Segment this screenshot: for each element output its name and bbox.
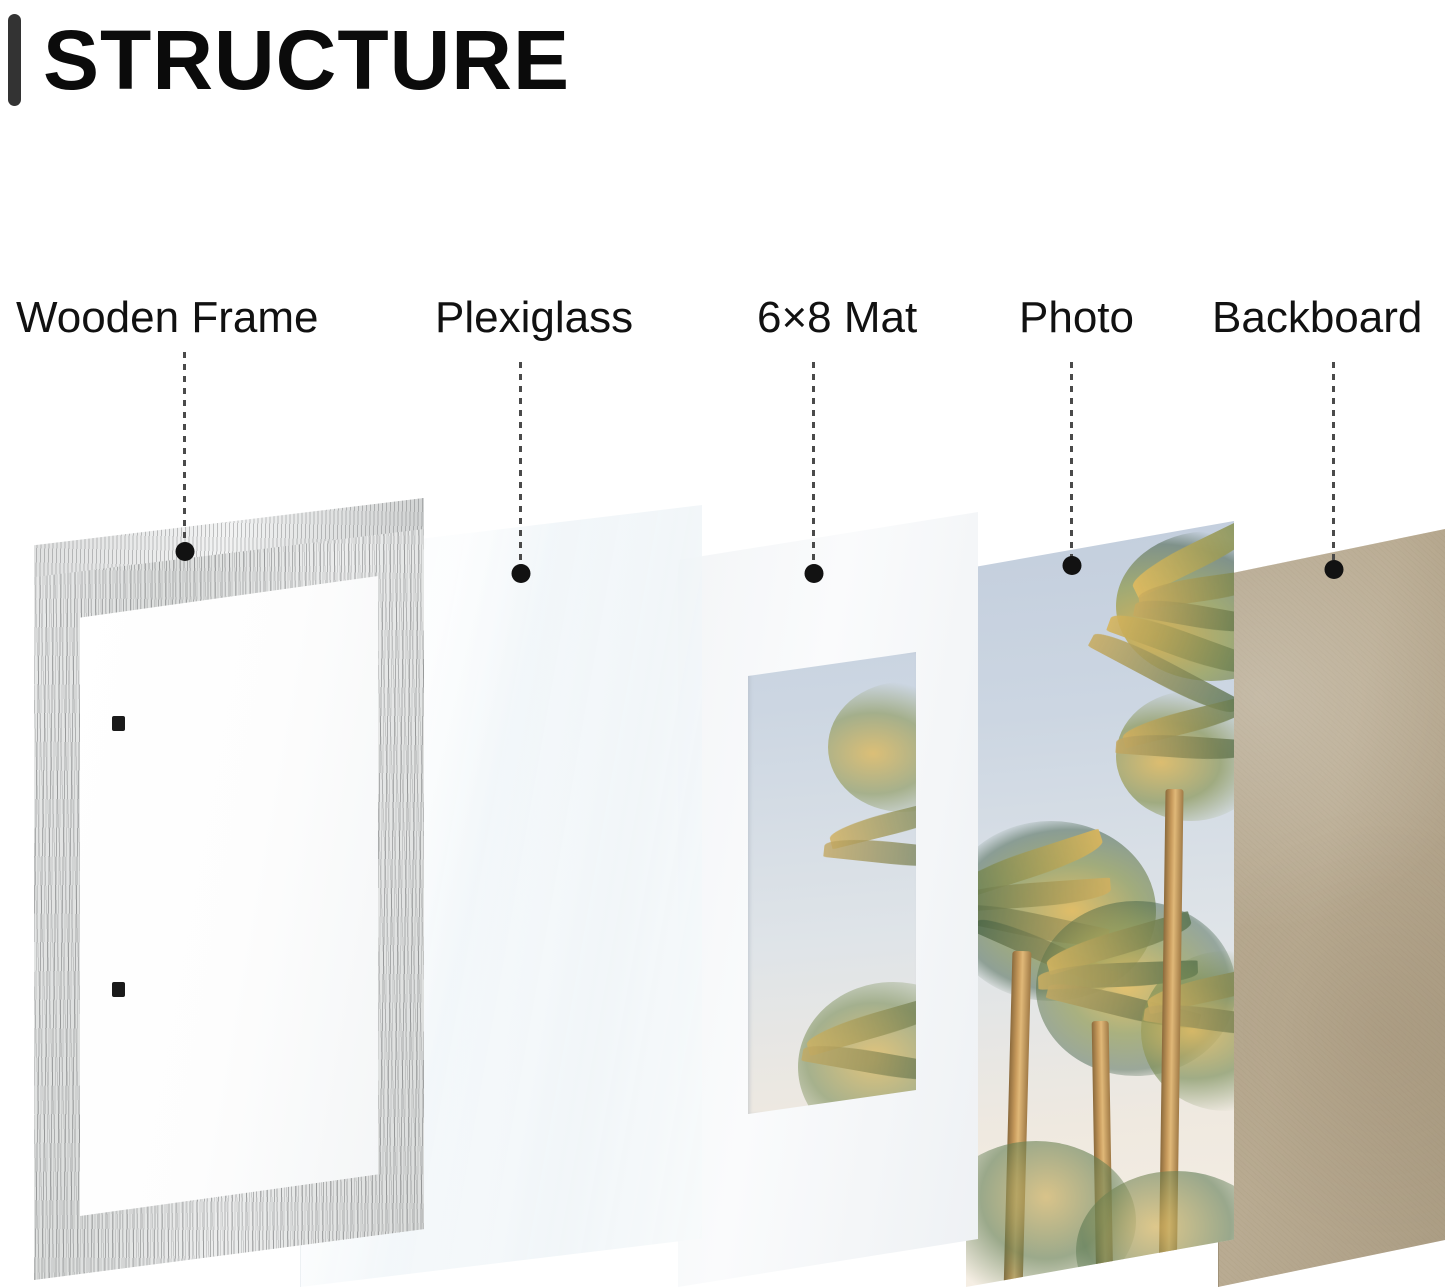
frame-clip-lower (112, 982, 125, 997)
mat-window-cutout (748, 652, 916, 1114)
layer-photo (966, 521, 1234, 1287)
structure-diagram-page: STRUCTURE Wooden Frame Plexiglass 6×8 Ma… (0, 0, 1445, 1287)
leader-dot (1324, 560, 1343, 579)
mat-window-photo-peek (748, 652, 916, 1114)
exploded-stage (0, 0, 1445, 1287)
leader-backboard (1332, 362, 1335, 570)
photo-palm-scene (966, 521, 1234, 1287)
leader-line (1332, 362, 1335, 570)
leader-line (183, 352, 186, 552)
leader-line (1070, 362, 1073, 566)
leader-dot (175, 542, 194, 561)
mat-peek-scene (748, 652, 916, 1114)
leader-dot (1062, 556, 1081, 575)
leader-line (519, 362, 522, 574)
leader-wooden-frame (183, 352, 186, 552)
leader-mat (812, 362, 815, 574)
frame-clip-upper (112, 716, 125, 731)
leader-dot (511, 564, 530, 583)
leader-dot (804, 564, 823, 583)
leader-plexiglass (519, 362, 522, 574)
leader-photo (1070, 362, 1073, 566)
layer-wooden-frame (34, 498, 434, 1287)
layer-backboard (1218, 529, 1445, 1287)
frame-opening (80, 576, 378, 1216)
leader-line (812, 362, 815, 574)
